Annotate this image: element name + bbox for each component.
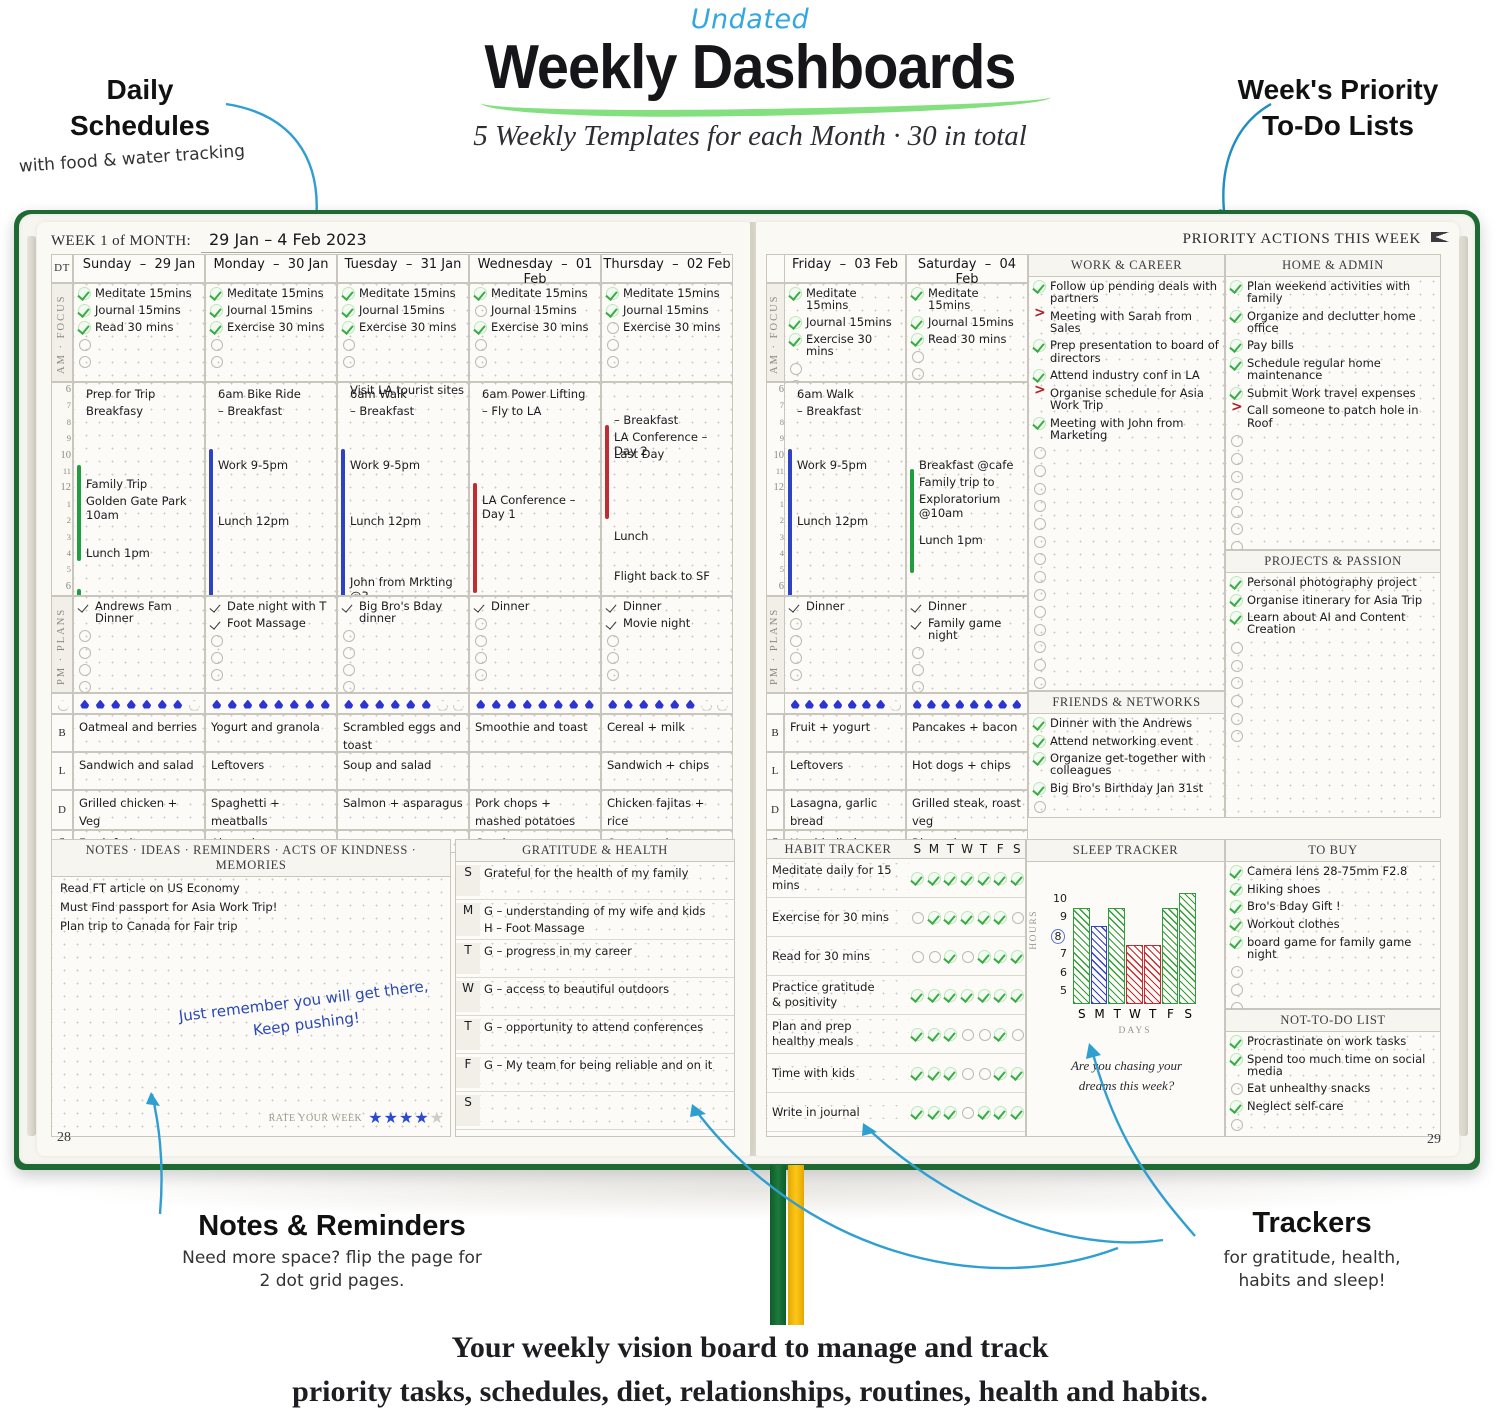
water-drop-icon[interactable]: [848, 698, 857, 710]
water-drop-icon[interactable]: [717, 698, 726, 710]
plan-item[interactable]: Dinner: [606, 600, 728, 612]
checkbox-icon[interactable]: [1033, 369, 1045, 381]
meal-cell[interactable]: Yogurt and granola: [205, 714, 337, 752]
meal-cell[interactable]: Cereal + milk: [601, 714, 733, 752]
focus-item[interactable]: [210, 355, 332, 367]
gratitude-row[interactable]: TG – progress in my career: [456, 940, 734, 978]
checkbox-icon[interactable]: [1230, 576, 1242, 588]
focus-item[interactable]: [78, 338, 200, 350]
list-item[interactable]: [1230, 983, 1436, 995]
plan-item[interactable]: [606, 634, 728, 646]
gratitude-text[interactable]: G – understanding of my wife and kidsH –…: [480, 903, 734, 936]
list-item[interactable]: Eat unhealthy snacks: [1230, 1082, 1436, 1094]
habit-check-icon[interactable]: [944, 950, 956, 962]
habit-check-icon[interactable]: [911, 872, 923, 884]
meal-cell[interactable]: Oatmeal and berries: [73, 714, 205, 752]
plan-item[interactable]: Family game night: [911, 617, 1023, 641]
gratitude-text[interactable]: Grateful for the health of my family: [480, 865, 734, 896]
plan-item[interactable]: Movie night: [606, 617, 728, 629]
plan-item[interactable]: Dinner: [474, 600, 596, 612]
checkbox-icon[interactable]: [789, 668, 801, 680]
water-drop-icon[interactable]: [321, 698, 330, 710]
habit-check-icon[interactable]: [1011, 872, 1023, 884]
checkbox-icon[interactable]: [1230, 310, 1242, 322]
plan-item[interactable]: [789, 668, 901, 680]
list-item[interactable]: Bro's Bday Gift !: [1230, 900, 1436, 912]
habit-row[interactable]: Read for 30 mins: [767, 937, 1025, 976]
checkbox-icon[interactable]: [1230, 918, 1242, 930]
schedule-entry[interactable]: Lunch 1pm: [86, 546, 202, 560]
focus-item[interactable]: Journal 15mins: [210, 304, 332, 316]
checkbox-icon[interactable]: [78, 355, 90, 367]
not-to-do-items[interactable]: Procrastinate on work tasksSpend too muc…: [1226, 1032, 1440, 1138]
checkbox-icon[interactable]: [789, 634, 801, 646]
water-drop-icon[interactable]: [1012, 698, 1021, 710]
plan-item[interactable]: [789, 651, 901, 663]
plan-item[interactable]: [78, 629, 200, 641]
list-item[interactable]: Pay bills: [1230, 339, 1436, 351]
notes-lines[interactable]: Read FT article on US EconomyMust Find p…: [52, 877, 450, 942]
focus-item[interactable]: Journal 15mins: [911, 316, 1023, 328]
habit-check-icon[interactable]: [994, 950, 1006, 962]
water-drop-icon[interactable]: [791, 698, 800, 710]
list-item[interactable]: [1033, 499, 1220, 511]
focus-item[interactable]: Read 30 mins: [78, 321, 200, 333]
water-drop-icon[interactable]: [927, 698, 936, 710]
checkbox-icon[interactable]: [210, 634, 222, 646]
checkbox-icon[interactable]: [1230, 983, 1242, 995]
water-drop-icon[interactable]: [639, 698, 648, 710]
checkbox-icon[interactable]: [1230, 594, 1242, 606]
plan-item[interactable]: [911, 663, 1023, 675]
water-drop-icon[interactable]: [189, 698, 198, 710]
checkbox-icon[interactable]: [342, 663, 354, 675]
checkbox-icon[interactable]: [789, 651, 801, 663]
gratitude-text[interactable]: G – progress in my career: [480, 943, 734, 974]
checkbox-icon[interactable]: [1033, 605, 1045, 617]
schedule-sunday[interactable]: Prep for TripBreakfasyFamily TripGolden …: [73, 382, 205, 596]
water-drop-icon[interactable]: [96, 698, 105, 710]
habit-check-icon[interactable]: [978, 950, 990, 962]
habit-row[interactable]: Write in journal: [767, 1093, 1025, 1132]
checkbox-icon[interactable]: [1230, 1053, 1242, 1065]
checkbox-icon[interactable]: [789, 316, 801, 328]
habit-check-icon[interactable]: [978, 989, 990, 1001]
plan-item[interactable]: [210, 668, 332, 680]
water-drop-icon[interactable]: [585, 698, 594, 710]
focus-item[interactable]: [342, 355, 464, 367]
gratitude-row[interactable]: TG – opportunity to attend conferences: [456, 1016, 734, 1054]
water-drop-icon[interactable]: [805, 698, 814, 710]
list-item[interactable]: [1230, 641, 1436, 653]
habit-check-icon[interactable]: [911, 911, 923, 923]
note-line[interactable]: Plan trip to Canada for Fair trip: [60, 919, 442, 933]
checkbox-icon[interactable]: [606, 600, 618, 612]
habit-check-icon[interactable]: [961, 950, 973, 962]
schedule-entry[interactable]: – Fly to LA: [482, 404, 598, 418]
list-item[interactable]: board game for family game night: [1230, 936, 1436, 960]
list-item[interactable]: [1033, 570, 1220, 582]
checkbox-icon[interactable]: [789, 287, 801, 299]
meal-cell[interactable]: Pancakes + bacon: [906, 714, 1028, 752]
list-item[interactable]: [1033, 535, 1220, 547]
water-drop-icon[interactable]: [701, 698, 710, 710]
checkbox-icon[interactable]: [210, 287, 222, 299]
plan-item[interactable]: [342, 629, 464, 641]
water-drop-icon[interactable]: [523, 698, 532, 710]
meal-cell[interactable]: Spaghetti + meatballs: [205, 790, 337, 830]
am-focus-tuesday[interactable]: Meditate 15minsJournal 15minsExercise 30…: [337, 283, 469, 382]
checkbox-icon[interactable]: [1230, 883, 1242, 895]
projects-passion-items[interactable]: Personal photography projectOrganise iti…: [1226, 573, 1440, 750]
schedule-entry[interactable]: 6am Bike Ride: [218, 387, 334, 401]
habit-check-icon[interactable]: [961, 1028, 973, 1040]
water-drop-icon[interactable]: [833, 698, 842, 710]
list-item[interactable]: Organize get-together with colleagues: [1033, 752, 1220, 776]
meal-cell[interactable]: [469, 752, 601, 790]
schedule-entry[interactable]: Work 9-5pm: [218, 458, 334, 472]
habit-check-icon[interactable]: [911, 1028, 923, 1040]
habit-check-icon[interactable]: [961, 1067, 973, 1079]
checkbox-icon[interactable]: [1033, 499, 1045, 511]
focus-item[interactable]: Meditate 15mins: [474, 287, 596, 299]
list-item[interactable]: Follow up pending deals with partners: [1033, 280, 1220, 304]
friends-networks-items[interactable]: Dinner with the AndrewsAttend networking…: [1029, 714, 1224, 820]
list-item[interactable]: Meeting with John from Marketing: [1033, 417, 1220, 441]
schedule-entry[interactable]: Breakfast @cafe: [919, 458, 1025, 472]
checkbox-icon[interactable]: [342, 629, 354, 641]
schedule-entry[interactable]: Visit LA tourist sites: [350, 383, 466, 397]
habit-check-icon[interactable]: [978, 872, 990, 884]
gratitude-row[interactable]: S: [456, 1092, 734, 1130]
checkbox-icon[interactable]: [1033, 552, 1045, 564]
plan-item[interactable]: [78, 663, 200, 675]
list-item[interactable]: Organize and declutter home office: [1230, 310, 1436, 334]
plan-item[interactable]: [474, 651, 596, 663]
schedule-entry[interactable]: 6am Walk: [797, 387, 903, 401]
list-item[interactable]: [1033, 800, 1220, 812]
note-line[interactable]: Must Find passport for Asia Work Trip!: [60, 900, 442, 914]
checkbox-icon[interactable]: [210, 304, 222, 316]
habit-check-icon[interactable]: [1011, 1067, 1023, 1079]
plan-item[interactable]: Dinner: [789, 600, 901, 612]
checkbox-icon[interactable]: [1230, 865, 1242, 877]
habit-check-icon[interactable]: [944, 1067, 956, 1079]
checkbox-icon[interactable]: [1230, 1118, 1242, 1130]
meal-cell[interactable]: Salmon + asparagus: [337, 790, 469, 830]
plan-item[interactable]: [606, 668, 728, 680]
list-item[interactable]: [1230, 487, 1436, 499]
list-item[interactable]: Big Bro's Birthday Jan 31st: [1033, 782, 1220, 794]
focus-item[interactable]: Exercise 30 mins: [210, 321, 332, 333]
schedule-saturday[interactable]: Breakfast @cafeFamily trip toExploratori…: [906, 382, 1028, 596]
focus-item[interactable]: [789, 362, 901, 374]
work-career-panel[interactable]: WORK & CAREER Follow up pending deals wi…: [1028, 254, 1225, 691]
plan-item[interactable]: [606, 651, 728, 663]
checkbox-icon[interactable]: [911, 680, 923, 692]
to-buy-items[interactable]: Camera lens 28-75mm F2.8Hiking shoesBro'…: [1226, 862, 1440, 1021]
checkbox-icon[interactable]: [474, 304, 486, 316]
checkbox-icon[interactable]: [474, 668, 486, 680]
checkbox-icon[interactable]: [1230, 1035, 1242, 1047]
checkbox-icon[interactable]: [78, 600, 90, 612]
list-item[interactable]: Schedule regular home maintenance: [1230, 357, 1436, 381]
water-drop-icon[interactable]: [274, 698, 283, 710]
schedule-entry[interactable]: Prep for Trip: [86, 387, 202, 401]
list-item[interactable]: [1230, 434, 1436, 446]
plan-item[interactable]: [911, 680, 1023, 692]
habit-row[interactable]: Exercise for 30 mins: [767, 898, 1025, 937]
habit-check-icon[interactable]: [911, 950, 923, 962]
checkbox-icon[interactable]: [1033, 517, 1045, 529]
schedule-entry[interactable]: Lunch: [614, 529, 730, 543]
list-item[interactable]: [1230, 522, 1436, 534]
list-item[interactable]: [1033, 464, 1220, 476]
habit-tracker-rows[interactable]: Meditate daily for 15 minsExercise for 3…: [767, 859, 1025, 1132]
list-item[interactable]: [1033, 588, 1220, 600]
water-drop-icon[interactable]: [819, 698, 828, 710]
habit-check-icon[interactable]: [911, 1106, 923, 1118]
list-item[interactable]: Plan weekend activities with family: [1230, 280, 1436, 304]
checkbox-icon[interactable]: [78, 663, 90, 675]
pm-plans-saturday[interactable]: DinnerFamily game night: [906, 596, 1028, 693]
habit-check-icon[interactable]: [961, 872, 973, 884]
plan-item[interactable]: Big Bro's Bday dinner: [342, 600, 464, 624]
checkbox-icon[interactable]: [78, 304, 90, 316]
list-item[interactable]: Attend industry conf in LA: [1033, 369, 1220, 381]
gratitude-text[interactable]: G – access to beautiful outdoors: [480, 981, 734, 1012]
checkbox-icon[interactable]: [210, 651, 222, 663]
checkbox-icon[interactable]: [210, 321, 222, 333]
water-drop-icon[interactable]: [569, 698, 578, 710]
habit-check-icon[interactable]: [944, 1106, 956, 1118]
checkbox-icon[interactable]: [1033, 782, 1045, 794]
checkbox-icon[interactable]: [1230, 339, 1242, 351]
habit-check-icon[interactable]: [994, 872, 1006, 884]
schedule-wednesday[interactable]: 6am Power Lifting– Fly to LALA Conferenc…: [469, 382, 601, 596]
water-drop-icon[interactable]: [655, 698, 664, 710]
checkbox-icon[interactable]: [911, 333, 923, 345]
checkbox-icon[interactable]: [342, 338, 354, 350]
list-item[interactable]: Personal photography project: [1230, 576, 1436, 588]
gratitude-row[interactable]: SGrateful for the health of my family: [456, 862, 734, 900]
focus-item[interactable]: Exercise 30 mins: [789, 333, 901, 357]
checkbox-icon[interactable]: [342, 321, 354, 333]
pm-plans-tuesday[interactable]: Big Bro's Bday dinner: [337, 596, 469, 693]
habit-check-icon[interactable]: [978, 1106, 990, 1118]
habit-check-icon[interactable]: [978, 1028, 990, 1040]
focus-item[interactable]: [474, 355, 596, 367]
checkbox-icon[interactable]: [1230, 694, 1242, 706]
water-drop-icon[interactable]: [538, 698, 547, 710]
gratitude-text[interactable]: G – opportunity to attend conferences: [480, 1019, 734, 1050]
gratitude-row[interactable]: WG – access to beautiful outdoors: [456, 978, 734, 1016]
focus-item[interactable]: [606, 355, 728, 367]
checkbox-icon[interactable]: [210, 355, 222, 367]
list-item[interactable]: [1033, 482, 1220, 494]
checkbox-icon[interactable]: [1230, 729, 1242, 741]
gratitude-rows[interactable]: SGrateful for the health of my familyMG …: [456, 862, 734, 1130]
pm-plans-sunday[interactable]: Andrews Fam Dinner: [73, 596, 205, 693]
checkbox-icon[interactable]: [1033, 676, 1045, 688]
checkbox-icon[interactable]: [606, 321, 618, 333]
habit-check-icon[interactable]: [978, 911, 990, 923]
checkbox-icon[interactable]: [210, 617, 222, 629]
schedule-monday[interactable]: 6am Bike Ride– BreakfastWork 9-5pmLunch …: [205, 382, 337, 596]
plan-item[interactable]: [789, 617, 901, 629]
schedule-entry[interactable]: Lunch 1pm: [919, 533, 1025, 547]
list-item[interactable]: [1230, 452, 1436, 464]
focus-item[interactable]: [342, 338, 464, 350]
checkbox-icon[interactable]: [1033, 800, 1045, 812]
water-tracker-saturday[interactable]: [906, 693, 1028, 714]
habit-marks[interactable]: [909, 989, 1025, 1001]
habit-check-icon[interactable]: [994, 911, 1006, 923]
list-item[interactable]: [1033, 552, 1220, 564]
schedule-entry[interactable]: – Breakfast: [797, 404, 903, 418]
checkbox-icon[interactable]: [1033, 623, 1045, 635]
habit-check-icon[interactable]: [911, 1067, 923, 1079]
habit-marks[interactable]: [909, 911, 1025, 923]
checkbox-icon[interactable]: [1033, 535, 1045, 547]
checkbox-icon[interactable]: [1230, 1100, 1242, 1112]
water-drop-icon[interactable]: [228, 698, 237, 710]
checkbox-icon[interactable]: [1230, 522, 1242, 534]
list-item[interactable]: Spend too much time on social media: [1230, 1053, 1436, 1077]
habit-marks[interactable]: [909, 950, 1025, 962]
star-icon[interactable]: ★: [430, 1110, 445, 1127]
habit-check-icon[interactable]: [1011, 950, 1023, 962]
list-item[interactable]: Organise itinerary for Asia Trip: [1230, 594, 1436, 606]
plan-item[interactable]: [78, 680, 200, 692]
habit-check-icon[interactable]: [928, 872, 940, 884]
checkbox-icon[interactable]: [474, 617, 486, 629]
checkbox-icon[interactable]: [342, 600, 354, 612]
star-icon[interactable]: ★: [384, 1110, 399, 1127]
checkbox-icon[interactable]: [78, 680, 90, 692]
schedule-entry[interactable]: Golden Gate Park 10am: [86, 494, 202, 522]
work-career-items[interactable]: Follow up pending deals with partnersMee…: [1029, 277, 1224, 696]
list-item[interactable]: Submit Work travel expenses: [1230, 387, 1436, 399]
habit-row[interactable]: Time with kids: [767, 1054, 1025, 1093]
week-range-value[interactable]: 29 Jan – 4 Feb 2023: [209, 230, 367, 249]
list-item[interactable]: [1033, 623, 1220, 635]
habit-tracker-panel[interactable]: HABIT TRACKER SMTWTFS Meditate daily for…: [766, 839, 1026, 1137]
meal-cell[interactable]: Pork chops + mashed potatoes: [469, 790, 601, 830]
schedule-entry[interactable]: Work 9-5pm: [350, 458, 466, 472]
water-drop-icon[interactable]: [305, 698, 314, 710]
checkbox-icon[interactable]: [1033, 446, 1045, 458]
checkbox-icon[interactable]: [210, 600, 222, 612]
water-drop-icon[interactable]: [437, 698, 446, 710]
water-drop-icon[interactable]: [406, 698, 415, 710]
habit-row[interactable]: Plan and prephealthy meals: [767, 1015, 1025, 1054]
habit-check-icon[interactable]: [911, 989, 923, 1001]
meal-cell[interactable]: Soup and salad: [337, 752, 469, 790]
habit-check-icon[interactable]: [994, 989, 1006, 1001]
checkbox-icon[interactable]: [474, 338, 486, 350]
checkbox-icon[interactable]: [1033, 280, 1045, 292]
habit-check-icon[interactable]: [1011, 1028, 1023, 1040]
checkbox-icon[interactable]: [1230, 280, 1242, 292]
water-drop-icon[interactable]: [453, 698, 462, 710]
focus-item[interactable]: Meditate 15mins: [342, 287, 464, 299]
list-item[interactable]: [1033, 605, 1220, 617]
water-drop-icon[interactable]: [476, 698, 485, 710]
checkbox-icon[interactable]: [1230, 505, 1242, 517]
checkbox-icon[interactable]: [1230, 404, 1242, 416]
list-item[interactable]: [1230, 659, 1436, 671]
water-drop-icon[interactable]: [259, 698, 268, 710]
schedule-friday[interactable]: 6am Walk– BreakfastWork 9-5pmLunch 12pmM…: [784, 382, 906, 596]
plan-item[interactable]: Foot Massage: [210, 617, 332, 629]
focus-item[interactable]: Exercise 30 mins: [606, 321, 728, 333]
checkbox-icon[interactable]: [78, 321, 90, 333]
list-item[interactable]: [1230, 729, 1436, 741]
plan-item[interactable]: Dinner: [911, 600, 1023, 612]
home-admin-panel[interactable]: HOME & ADMIN Plan weekend activities wit…: [1225, 254, 1441, 550]
water-drop-icon[interactable]: [554, 698, 563, 710]
checkbox-icon[interactable]: [911, 367, 923, 379]
checkbox-icon[interactable]: [1230, 965, 1242, 977]
checkbox-icon[interactable]: [1033, 417, 1045, 429]
checkbox-icon[interactable]: [1033, 310, 1045, 322]
water-drop-icon[interactable]: [507, 698, 516, 710]
focus-item[interactable]: [474, 338, 596, 350]
habit-marks[interactable]: [909, 1106, 1025, 1118]
water-drop-icon[interactable]: [955, 698, 964, 710]
checkbox-icon[interactable]: [606, 287, 618, 299]
gratitude-row[interactable]: FG – My team for being reliable and on i…: [456, 1054, 734, 1092]
focus-item[interactable]: Journal 15mins: [78, 304, 200, 316]
checkbox-icon[interactable]: [1230, 712, 1242, 724]
checkbox-icon[interactable]: [789, 600, 801, 612]
checkbox-icon[interactable]: [1033, 570, 1045, 582]
focus-item[interactable]: Journal 15mins: [789, 316, 901, 328]
focus-item[interactable]: Meditate 15mins: [210, 287, 332, 299]
checkbox-icon[interactable]: [1033, 482, 1045, 494]
schedule-entry[interactable]: Lunch 12pm: [350, 514, 466, 528]
checkbox-icon[interactable]: [1230, 659, 1242, 671]
checkbox-icon[interactable]: [342, 355, 354, 367]
schedule-entry[interactable]: Work 9-5pm: [797, 458, 903, 472]
plan-item[interactable]: [342, 663, 464, 675]
water-drop-icon[interactable]: [127, 698, 136, 710]
habit-check-icon[interactable]: [994, 1106, 1006, 1118]
schedule-entry[interactable]: Exploratorium @10am: [919, 492, 1025, 520]
habit-check-icon[interactable]: [961, 989, 973, 1001]
habit-check-icon[interactable]: [978, 1067, 990, 1079]
checkbox-icon[interactable]: [342, 680, 354, 692]
checkbox-icon[interactable]: [606, 634, 618, 646]
checkbox-icon[interactable]: [606, 338, 618, 350]
schedule-entry[interactable]: – Breakfast: [614, 413, 730, 427]
schedule-entry[interactable]: Breakfasy: [86, 404, 202, 418]
checkbox-icon[interactable]: [606, 668, 618, 680]
checkbox-icon[interactable]: [342, 304, 354, 316]
water-drop-icon[interactable]: [624, 698, 633, 710]
schedule-entry[interactable]: 6am Power Lifting: [482, 387, 598, 401]
schedule-entry[interactable]: Family trip to: [919, 475, 1025, 489]
list-item[interactable]: Call someone to patch hole in Roof: [1230, 404, 1436, 428]
list-item[interactable]: [1033, 517, 1220, 529]
schedule-entry[interactable]: John from Mrkting @3: [350, 575, 466, 596]
not-to-do-panel[interactable]: NOT-TO-DO LIST Procrastinate on work tas…: [1225, 1009, 1441, 1137]
checkbox-icon[interactable]: [474, 287, 486, 299]
checkbox-icon[interactable]: [342, 287, 354, 299]
focus-item[interactable]: Exercise 30 mins: [342, 321, 464, 333]
list-item[interactable]: [1230, 1118, 1436, 1130]
